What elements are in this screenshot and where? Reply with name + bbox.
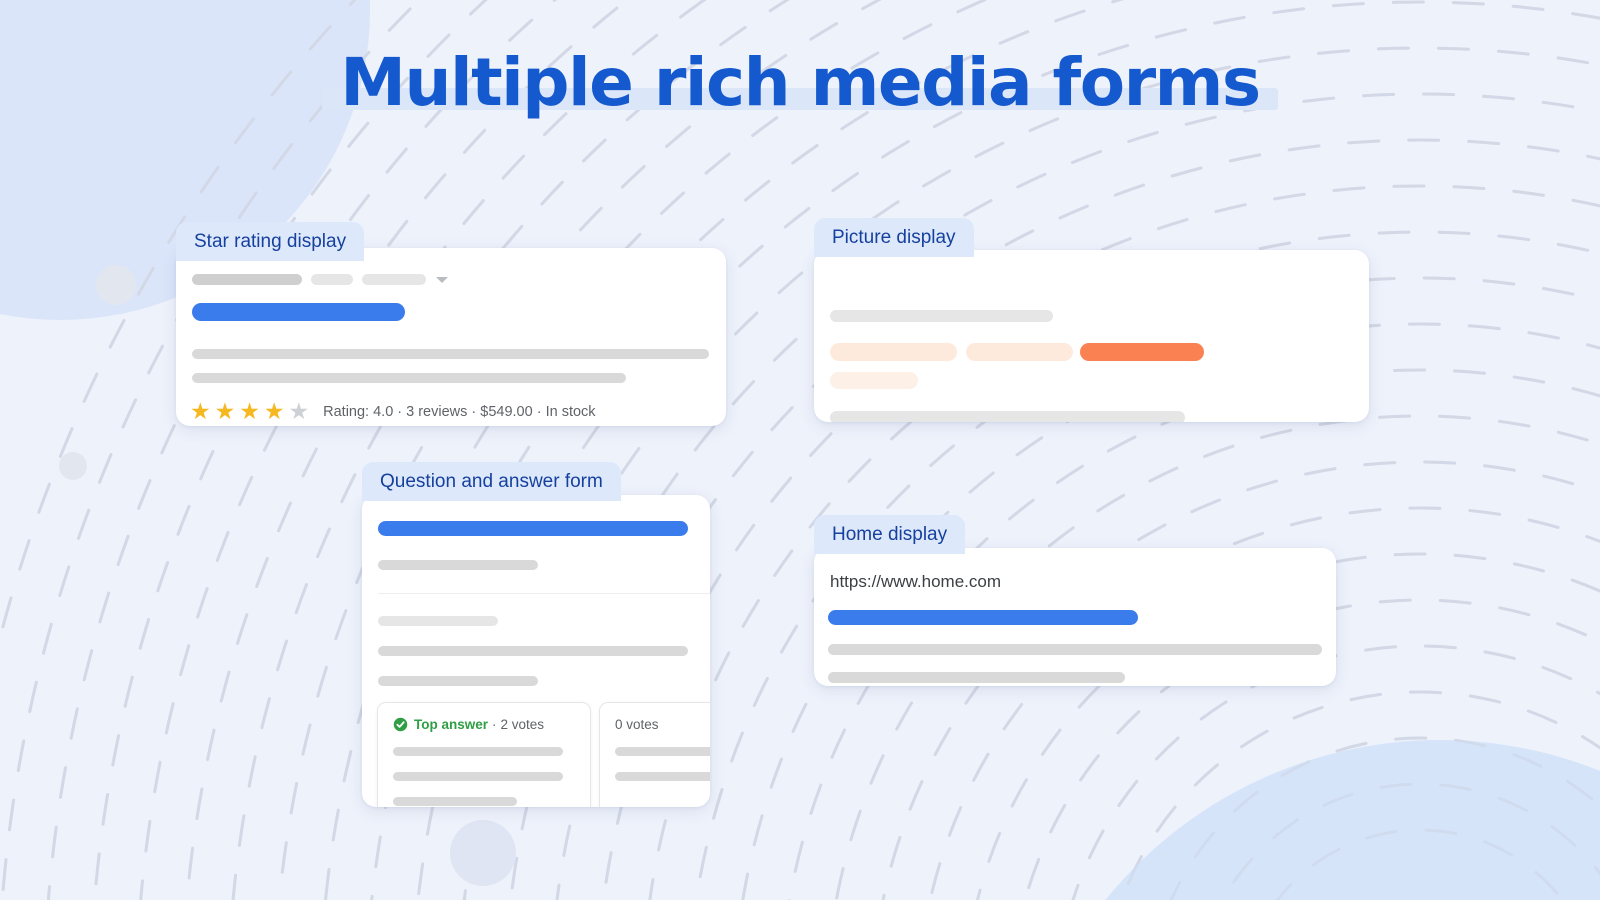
card-question-answer: Question and answer form Top answer · 2 … — [362, 462, 714, 810]
star-icon-2: ★ — [215, 400, 236, 423]
tag-pill-3 — [830, 372, 918, 389]
section-divider — [378, 593, 710, 594]
tag-pill-highlighted — [1080, 343, 1204, 361]
answer-skeleton-2 — [393, 772, 563, 781]
decor-circle-3 — [450, 820, 516, 886]
tag-pill-2 — [966, 343, 1073, 361]
answer-skeleton-3 — [393, 797, 517, 806]
check-circle-icon — [393, 717, 408, 732]
title-bar-blue — [192, 303, 405, 321]
skeleton-line-1 — [378, 560, 538, 570]
skeleton-line-2 — [830, 411, 1185, 422]
tag-pill-1 — [830, 343, 957, 361]
decor-circle-2 — [59, 452, 87, 480]
blob-bottom-right — [1010, 740, 1600, 900]
card-star-rating: Star rating display ★ ★ ★ ★ ★ Rating: 4.… — [176, 222, 736, 427]
answer-header-secondary: 0 votes — [615, 717, 659, 732]
answer-skeleton-2 — [615, 772, 710, 781]
card-picture-display: Picture display — [814, 218, 1379, 428]
skeleton-pill-3 — [362, 274, 426, 285]
page-title-block: Multiple rich media forms — [0, 48, 1600, 117]
tab-home-display-label[interactable]: Home display — [814, 515, 965, 554]
skeleton-line-1 — [830, 310, 1053, 322]
tab-picture-display-label[interactable]: Picture display — [814, 218, 974, 257]
top-answer-badge: Top answer — [414, 717, 488, 732]
skeleton-line-4 — [378, 676, 538, 686]
arc-pattern-overlay — [0, 0, 1600, 900]
answer-skeleton-1 — [615, 747, 710, 756]
star-icon-4: ★ — [264, 400, 285, 423]
skeleton-pill-2 — [311, 274, 353, 285]
answer-votes-secondary: 0 votes — [615, 717, 659, 732]
qa-card-body: Top answer · 2 votes 0 votes — [362, 495, 710, 807]
page-title: Multiple rich media forms — [340, 48, 1259, 117]
rating-meta-text: Rating: 4.0 · 3 reviews · $549.00 · In s… — [323, 404, 595, 420]
star-icon-5-empty: ★ — [289, 400, 310, 423]
star-icon-3: ★ — [239, 400, 260, 423]
skeleton-line-1 — [828, 644, 1322, 655]
star-icon-1: ★ — [190, 400, 211, 423]
card-home-display: Home display https://www.home.com — [814, 515, 1344, 690]
skeleton-line-2 — [192, 373, 626, 383]
skeleton-line-2 — [378, 616, 498, 626]
answer-box-secondary[interactable]: 0 votes — [599, 702, 710, 807]
tab-star-rating-label[interactable]: Star rating display — [176, 222, 364, 261]
answer-box-top[interactable]: Top answer · 2 votes — [377, 702, 591, 807]
skeleton-line-1 — [192, 349, 709, 359]
background-decoration — [0, 0, 1600, 900]
skeleton-pill-1 — [192, 274, 302, 285]
arc-pattern — [0, 0, 1600, 900]
title-bar-blue — [828, 610, 1138, 625]
tab-qa-label[interactable]: Question and answer form — [362, 462, 621, 501]
decor-circle-1 — [96, 265, 136, 305]
skeleton-line-2 — [828, 672, 1125, 683]
answer-header-top: Top answer · 2 votes — [393, 717, 544, 732]
url-text[interactable]: https://www.home.com — [830, 572, 1001, 592]
star-rating-row: ★ ★ ★ ★ ★ Rating: 4.0 · 3 reviews · $549… — [190, 400, 596, 423]
chevron-down-icon[interactable] — [436, 277, 448, 283]
answer-separator: · — [492, 717, 497, 732]
poster-canvas: Multiple rich media forms Star rating di… — [0, 0, 1600, 900]
answer-votes-top: 2 votes — [501, 717, 545, 732]
star-rating-card-body: ★ ★ ★ ★ ★ Rating: 4.0 · 3 reviews · $549… — [176, 248, 726, 426]
home-card-body: https://www.home.com — [814, 548, 1336, 686]
question-bar-blue — [378, 521, 688, 536]
answer-skeleton-1 — [393, 747, 563, 756]
skeleton-line-3 — [378, 646, 688, 656]
picture-card-body — [814, 250, 1369, 422]
